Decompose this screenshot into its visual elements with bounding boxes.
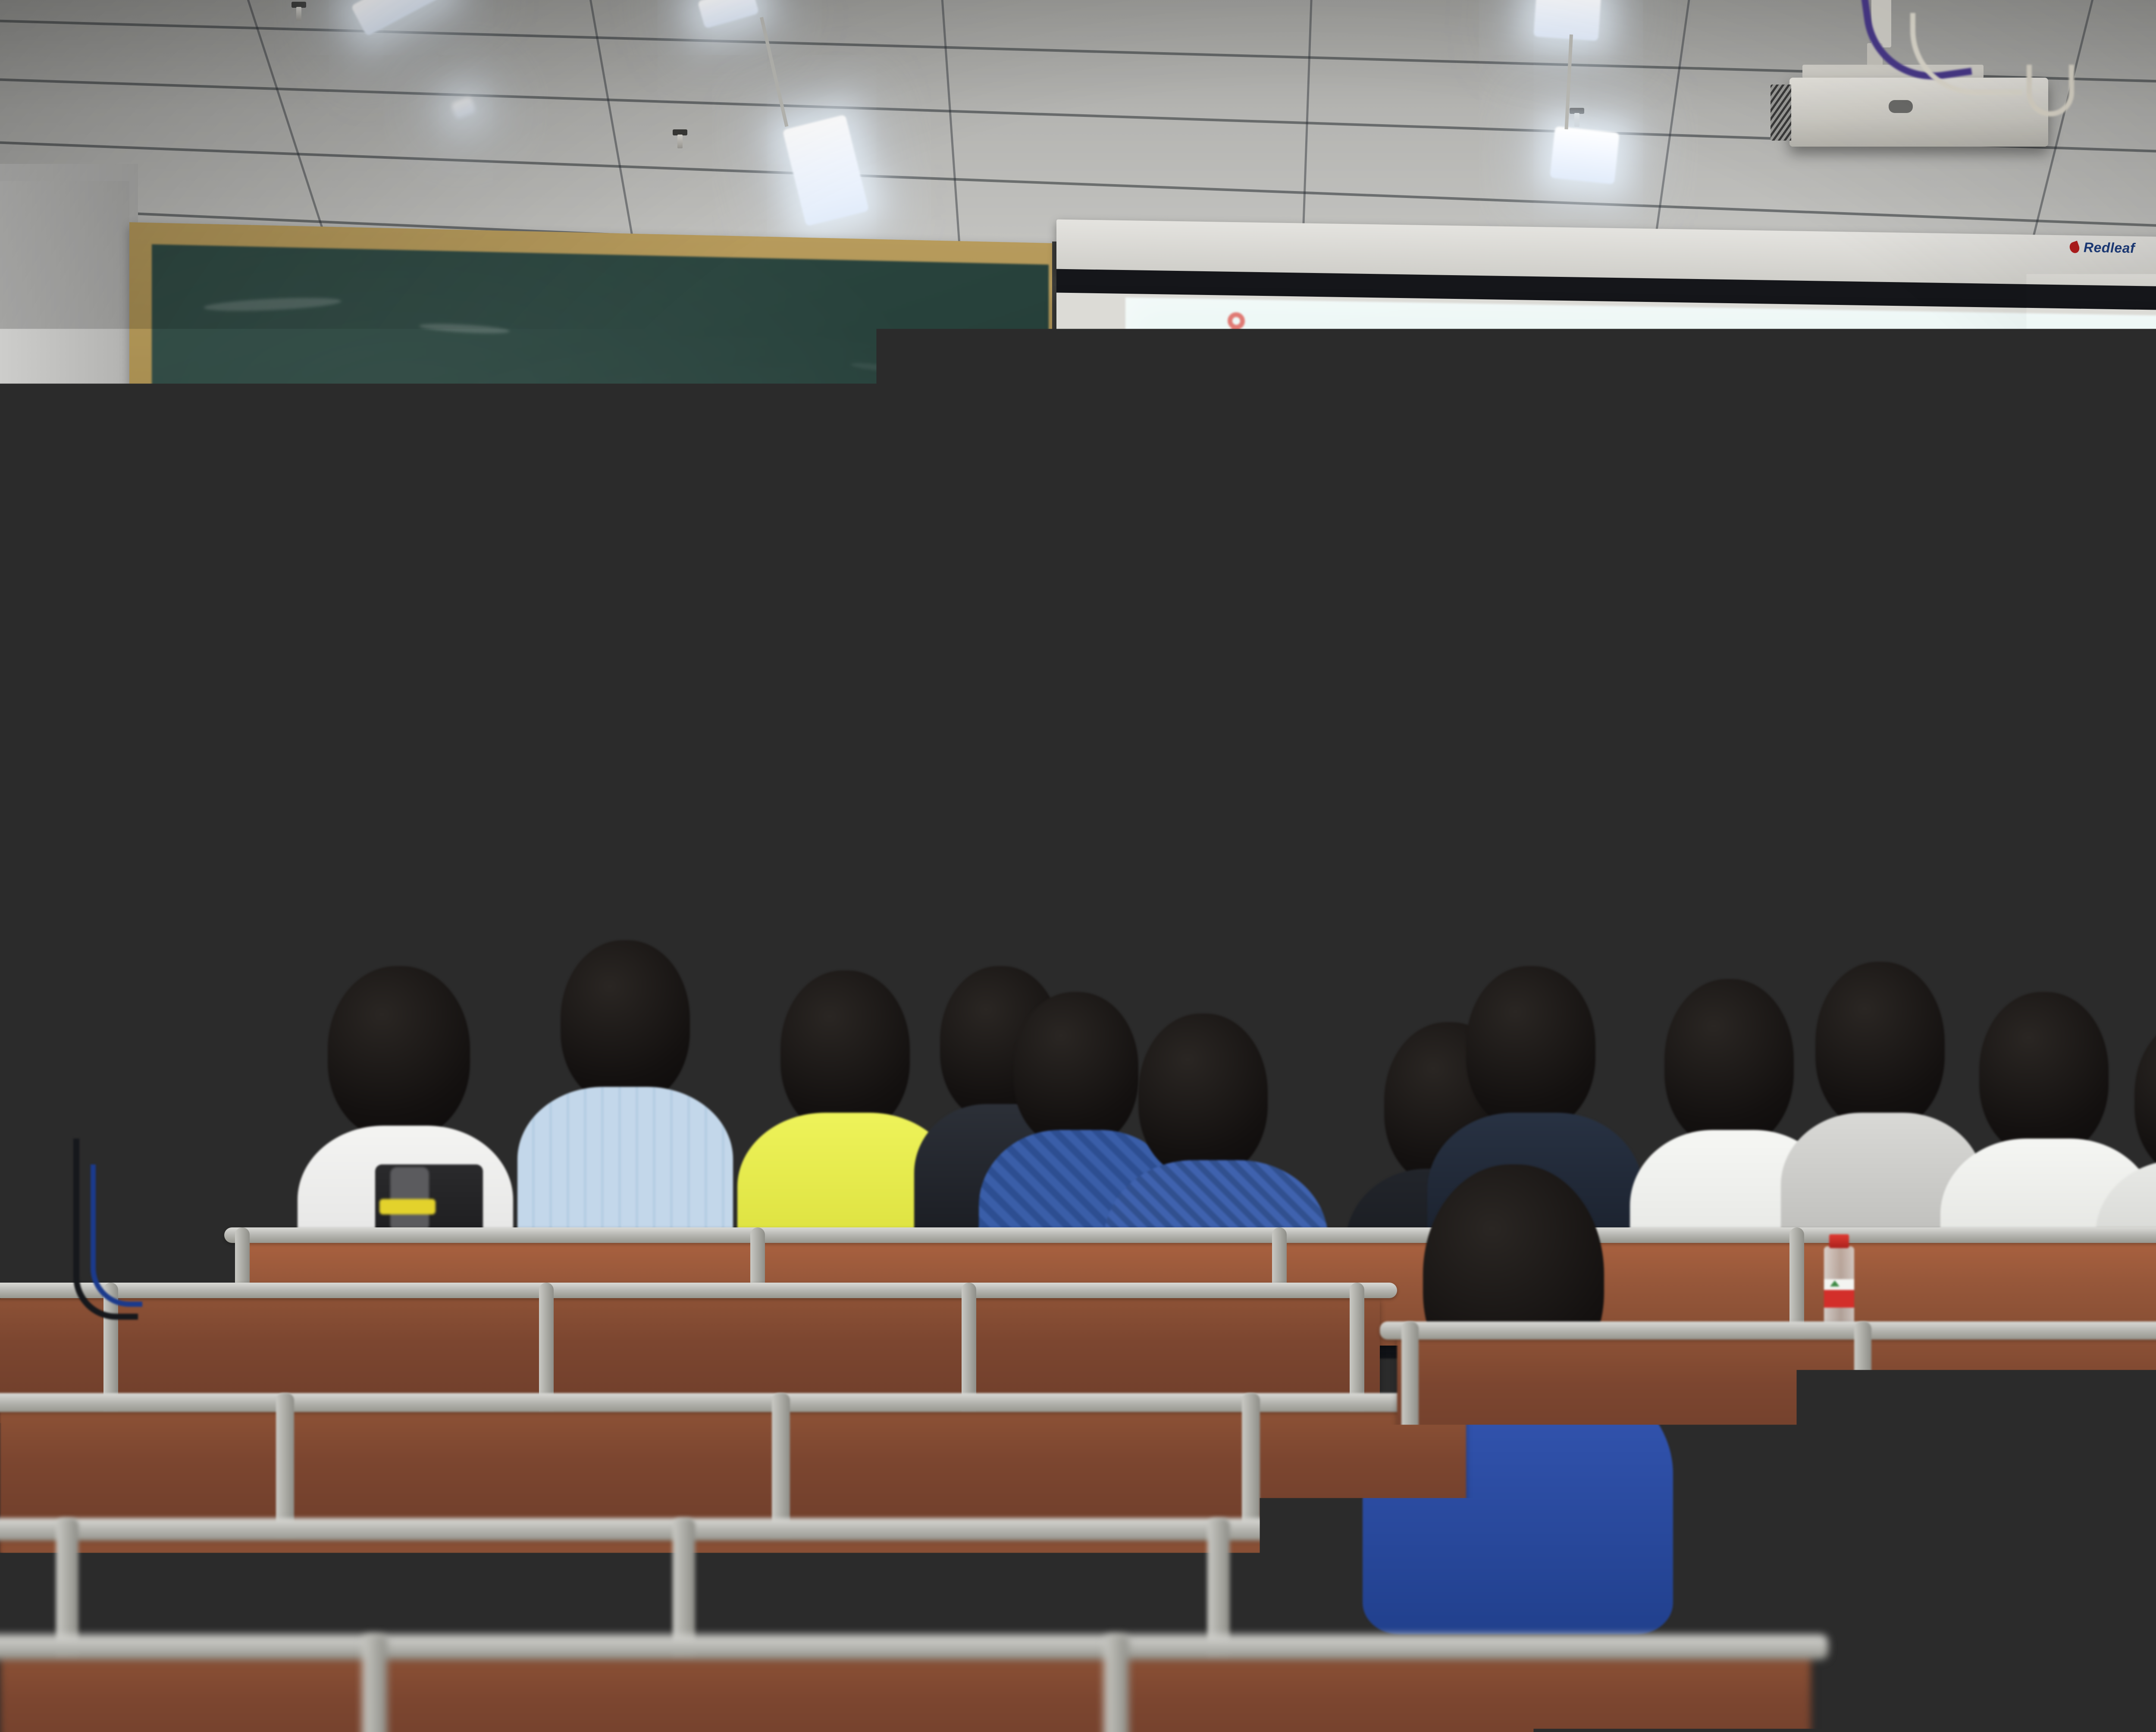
student-head <box>780 970 910 1134</box>
ceiling-light <box>782 114 869 226</box>
plaque-small-seal: 德 <box>1839 656 1874 703</box>
sprinkler-icon <box>1570 108 1584 128</box>
desk-row-rail-right <box>1492 1596 2156 1620</box>
projector-cable-loop <box>2027 65 2074 116</box>
desk-row-rail-right <box>1449 1449 2156 1471</box>
cabinet-lock-icon <box>379 959 386 967</box>
slide-logo: 红有软件 HONGYOU SOFTWARE <box>1210 312 1263 377</box>
bottle-label <box>1311 1095 1334 1117</box>
plaque-small-seal: 體 <box>2003 703 2037 752</box>
plaque-big-seal-zhi: 智 <box>1893 661 1952 720</box>
plaque-xue-char: 學 <box>2035 642 2052 668</box>
presenter-hair <box>575 738 643 780</box>
desk-row-rail <box>224 1227 2156 1243</box>
plaque-caption-3: 发展体育运动，增强人民体质。 <box>2028 747 2156 761</box>
microphone-head-icon <box>611 831 630 856</box>
desk-row-panel-right <box>1509 1613 2156 1732</box>
student-head <box>561 940 690 1104</box>
slide-title: 职业体会 <box>1419 432 1979 507</box>
presenter-mouth <box>603 805 621 810</box>
plaque-corner-seal: 弼 <box>1736 637 1762 670</box>
plaque-small-seal: 智 <box>1955 706 1990 754</box>
plaque-caption-1: 厚德载物 <box>1783 754 1847 777</box>
presenter-hand <box>600 866 647 926</box>
student-head <box>1013 992 1138 1147</box>
sprinkler-icon <box>291 2 306 22</box>
plaque-stamp-seal: 囲 <box>1824 703 1851 734</box>
student-head <box>1138 1013 1268 1177</box>
slide-logo-company-cn: 红有软件 <box>1195 379 1277 395</box>
sprinkler-icon <box>673 129 687 149</box>
desk-row-rail-right <box>1380 1321 2156 1340</box>
plaque-big-seal-ti: 体 <box>2067 673 2125 732</box>
projected-slide: 红有软件 HONGYOU SOFTWARE 职业体会 勤修身：德智体 勤思考：广… <box>1125 298 2156 942</box>
backpack-accent <box>379 1199 436 1214</box>
bottle-cap <box>1315 1060 1330 1071</box>
plaque-top-rail <box>1726 616 2156 634</box>
slide-bullet-1: 勤修身：德智体 <box>1242 618 1514 677</box>
screen-brand-mark: Redleaf <box>2070 239 2135 256</box>
desk-row-rail <box>0 1393 1492 1412</box>
student-head <box>1466 966 1595 1130</box>
slide-bullet-2: 勤思考：广深远 <box>1242 713 1514 772</box>
water-bottle[interactable] <box>1824 1246 1854 1330</box>
slide-divider-bar <box>1311 377 2156 405</box>
screen-brand-label: Redleaf <box>2084 239 2135 256</box>
student-head <box>1815 962 1945 1130</box>
foreground-aisle-shadow <box>1371 1479 1535 1732</box>
projector-lens-indicator <box>1889 100 1913 113</box>
classroom-scene: Redleaf 红有软件 HONGYOU SOFTWARE 职业体会 勤修身：德… <box>0 0 2156 1732</box>
plaque-big-seal-de: 德 <box>1755 680 1812 737</box>
wall-cable-bundle <box>13 1251 82 1371</box>
blackboard-upper <box>152 244 1049 709</box>
plaque-caption-4: ——毛泽东 <box>2083 772 2131 785</box>
slide-bullet-3: 勤实践：精韧合 <box>1242 808 1514 867</box>
student-head <box>1979 992 2109 1156</box>
left-wall-column <box>0 181 129 1130</box>
projector-vent <box>1771 85 1791 141</box>
bottle-label <box>1824 1279 1854 1308</box>
student-head <box>328 966 470 1139</box>
ceiling-light <box>697 0 759 29</box>
desk-post <box>1401 1321 1419 1490</box>
ceiling-light <box>451 96 477 120</box>
ceiling-light <box>1533 0 1601 41</box>
plaque-coin-icon <box>1988 641 2018 674</box>
red-leaf-icon <box>2068 241 2081 254</box>
slide-logo-company-en: HONGYOU SOFTWARE <box>1195 396 1277 402</box>
hongyou-diamond-logo-icon <box>1210 312 1263 377</box>
bottle-cap <box>1829 1234 1849 1248</box>
desk-post <box>362 1635 387 1732</box>
ceiling-light <box>1550 126 1620 184</box>
wall-power-outlet[interactable] <box>56 1104 88 1134</box>
wall-cable-bundle <box>91 1164 142 1307</box>
plaque-coin-icon <box>1787 640 1819 674</box>
plaque-inner-panel: 弼 德 智 體 學 德 智 体 囲 厚德载物 自知为明，知人为智。 发展体育运动… <box>1726 616 2156 796</box>
slide-plaque-image: 弼 德 智 體 學 德 智 体 囲 厚德载物 自知为明，知人为智。 发展体育运动… <box>1716 601 2156 803</box>
water-bottle[interactable] <box>1311 1070 1334 1134</box>
plaque-caption-2: 自知为明，知人为智。 <box>1895 754 2012 771</box>
desk-post <box>1104 1635 1129 1732</box>
student-head <box>1664 979 1794 1147</box>
desk-row-rail <box>0 1283 1397 1298</box>
